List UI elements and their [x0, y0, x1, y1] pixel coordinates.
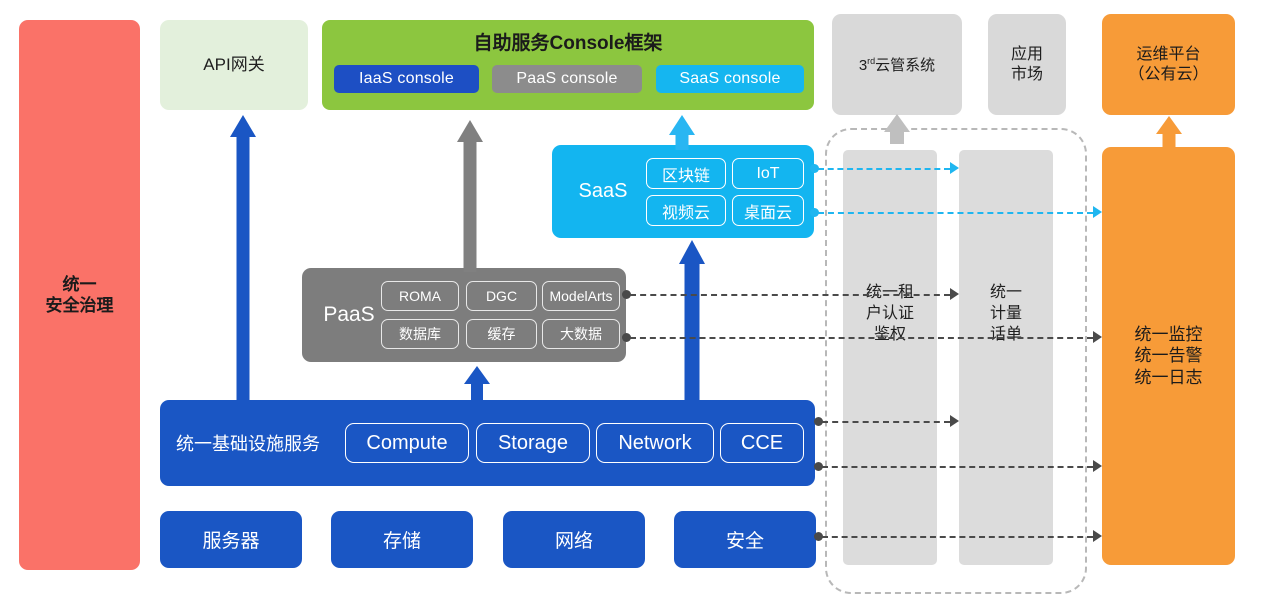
- infra-service-storage[interactable]: Storage: [476, 423, 590, 463]
- infra-service-compute[interactable]: Compute: [345, 423, 469, 463]
- arrow-ops-column-to-ops-platform: [1151, 116, 1187, 148]
- hardware-network-box[interactable]: 网络: [503, 511, 645, 568]
- hardware-storage-box[interactable]: 存储: [331, 511, 473, 568]
- arrow-saas-to-console: [664, 115, 700, 150]
- paas-block[interactable]: PaaS ROMA DGC ModelArts 数据库 缓存 大数据: [302, 268, 626, 362]
- arrow-shared-to-third-cloud: [878, 114, 916, 144]
- app-market-label: 应用 市场: [1011, 45, 1043, 85]
- paas-block-label: PaaS: [310, 268, 388, 362]
- third-party-cloud-mgmt-box[interactable]: 3rd云管系统: [832, 14, 962, 115]
- app-market-box[interactable]: 应用 市场: [988, 14, 1066, 115]
- connector-arrowhead-saas-ops: [1093, 206, 1102, 218]
- architecture-diagram: 统一 安全治理 API网关 自助服务Console框架 IaaS console…: [0, 0, 1265, 605]
- iaas-console-chip[interactable]: IaaS console: [334, 65, 479, 93]
- connector-arrowhead-infra-auth: [950, 415, 959, 427]
- saas-block-label: SaaS: [564, 145, 642, 238]
- api-gateway-label: API网关: [203, 54, 264, 75]
- paas-service-roma[interactable]: ROMA: [381, 281, 459, 311]
- connector-hardware-to-ops: [822, 536, 1093, 538]
- ops-platform-public-cloud-label: 运维平台 （公有云）: [1128, 45, 1208, 85]
- connector-paas-to-ops: [630, 337, 1093, 339]
- paas-service-database[interactable]: 数据库: [381, 319, 459, 349]
- paas-service-dgc[interactable]: DGC: [466, 281, 537, 311]
- connector-saas-to-auth: [818, 168, 950, 170]
- security-governance-label: 统一 安全治理: [46, 274, 114, 317]
- arrow-infra-to-saas: [672, 240, 712, 403]
- arrow-infra-to-api-gateway: [225, 115, 261, 403]
- saas-service-video-cloud[interactable]: 视频云: [646, 195, 726, 226]
- arrow-paas-to-console: [452, 120, 488, 272]
- paas-service-modelarts[interactable]: ModelArts: [542, 281, 620, 311]
- connector-arrowhead-infra-ops: [1093, 460, 1102, 472]
- connector-paas-to-auth: [630, 294, 950, 296]
- saas-console-chip[interactable]: SaaS console: [656, 65, 804, 93]
- third-party-cloud-mgmt-label: 3rd云管系统: [859, 54, 935, 75]
- connector-arrowhead-hardware-ops: [1093, 530, 1102, 542]
- saas-service-iot[interactable]: IoT: [732, 158, 804, 189]
- hardware-security-box[interactable]: 安全: [674, 511, 816, 568]
- security-governance-panel[interactable]: 统一 安全治理: [19, 20, 140, 570]
- paas-service-bigdata[interactable]: 大数据: [542, 319, 620, 349]
- unified-infrastructure-label: 统一基础设施服务: [176, 400, 320, 486]
- infra-service-cce[interactable]: CCE: [720, 423, 804, 463]
- ops-platform-public-cloud-box[interactable]: 运维平台 （公有云）: [1102, 14, 1235, 115]
- connector-arrowhead-paas-auth: [950, 288, 959, 300]
- hardware-server-box[interactable]: 服务器: [160, 511, 302, 568]
- console-framework-box[interactable]: 自助服务Console框架 IaaS console PaaS console …: [322, 20, 814, 110]
- paas-service-cache[interactable]: 缓存: [466, 319, 537, 349]
- connector-saas-to-ops: [818, 212, 1093, 214]
- connector-infra-to-auth: [822, 421, 950, 423]
- saas-block[interactable]: SaaS 区块链 IoT 视频云 桌面云: [552, 145, 814, 238]
- api-gateway-box[interactable]: API网关: [160, 20, 308, 110]
- infra-service-network[interactable]: Network: [596, 423, 714, 463]
- paas-console-chip[interactable]: PaaS console: [492, 65, 642, 93]
- unified-infrastructure-bar[interactable]: 统一基础设施服务 Compute Storage Network CCE: [160, 400, 815, 486]
- connector-arrowhead-saas-auth: [950, 162, 959, 174]
- connector-infra-to-ops: [822, 466, 1093, 468]
- connector-arrowhead-paas-ops: [1093, 331, 1102, 343]
- unified-monitoring-column[interactable]: 统一监控 统一告警 统一日志: [1102, 147, 1235, 565]
- arrow-infra-to-paas: [460, 366, 494, 404]
- saas-service-desktop-cloud[interactable]: 桌面云: [732, 195, 804, 226]
- unified-monitoring-label: 统一监控 统一告警 统一日志: [1135, 324, 1203, 388]
- saas-service-blockchain[interactable]: 区块链: [646, 158, 726, 189]
- console-framework-title: 自助服务Console框架: [322, 28, 814, 55]
